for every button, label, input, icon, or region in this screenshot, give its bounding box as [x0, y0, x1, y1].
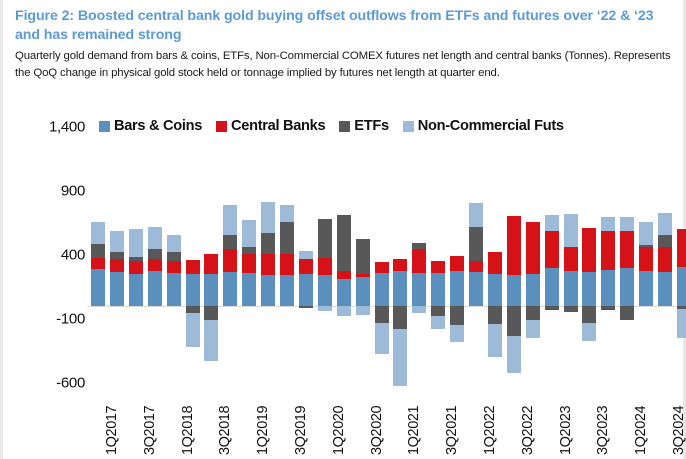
bar-segment[interactable] [148, 259, 162, 271]
bar-segment[interactable] [431, 261, 445, 273]
bar-segment[interactable] [526, 274, 540, 307]
bar-segment[interactable] [393, 271, 407, 306]
y-axis-ticks: 1,400900400-100-600 [17, 0, 85, 459]
bar-segment[interactable] [620, 231, 634, 268]
bar-segment[interactable] [431, 306, 445, 316]
bar-segment[interactable] [91, 258, 105, 269]
bar-segment[interactable] [658, 235, 672, 247]
bar-segment[interactable] [110, 272, 124, 307]
x-axis-tick-label: 3Q2020 [369, 406, 385, 455]
bar-segment[interactable] [469, 261, 483, 272]
bar-segment[interactable] [280, 205, 294, 222]
bar-segment[interactable] [204, 320, 218, 361]
bar-segment[interactable] [110, 252, 124, 259]
bar-segment[interactable] [658, 247, 672, 271]
bar-segment[interactable] [545, 268, 559, 306]
bar-segment[interactable] [167, 235, 181, 252]
bar-segment[interactable] [186, 260, 200, 273]
bar-segment[interactable] [601, 231, 615, 271]
bar-segment[interactable] [582, 228, 596, 272]
x-axis-tick-label: 1Q2019 [255, 406, 271, 455]
bar-segment[interactable] [507, 216, 521, 275]
x-axis-tick-label: 3Q2022 [520, 406, 536, 455]
bar-segment[interactable] [393, 259, 407, 271]
x-axis-tick-label: 1Q2018 [180, 406, 196, 455]
bar-segment[interactable] [223, 249, 237, 272]
bar-segment[interactable] [242, 273, 256, 306]
bar-segment[interactable] [129, 257, 143, 261]
bar-segment[interactable] [318, 275, 332, 306]
bar-segment[interactable] [545, 215, 559, 231]
bar-segment[interactable] [601, 217, 615, 230]
bar-segment[interactable] [299, 306, 313, 308]
y-axis-tick-label: 1,400 [49, 119, 85, 136]
bar-segment[interactable] [450, 256, 464, 271]
bar-segment[interactable] [526, 222, 540, 273]
bar-segment[interactable] [91, 222, 105, 244]
bar-segment[interactable] [507, 275, 521, 306]
bar-segment[interactable] [356, 239, 370, 274]
bar-segment[interactable] [677, 229, 686, 267]
bar-segment[interactable] [242, 220, 256, 247]
bar-segment[interactable] [186, 306, 200, 313]
bar-segment[interactable] [412, 243, 426, 248]
y-axis-tick-label: 900 [61, 183, 85, 200]
bar-segment[interactable] [469, 203, 483, 227]
bar-segment[interactable] [488, 324, 502, 357]
bar-segment[interactable] [564, 214, 578, 247]
x-axis-tick-label: 1Q2024 [633, 406, 649, 455]
bar-segment[interactable] [526, 306, 540, 320]
y-axis-tick-label: -600 [56, 375, 85, 392]
bar-segment[interactable] [431, 273, 445, 306]
bar-segment[interactable] [564, 306, 578, 312]
bar-segment[interactable] [620, 217, 634, 231]
bar-segment[interactable] [620, 306, 634, 320]
bar-segment[interactable] [639, 222, 653, 245]
bar-segment[interactable] [601, 270, 615, 306]
bar-segment[interactable] [242, 254, 256, 273]
bar-segment[interactable] [337, 306, 351, 316]
bar-segment[interactable] [223, 235, 237, 249]
bar-segment[interactable] [412, 273, 426, 306]
x-axis-tick-label: 3Q2024 [671, 406, 686, 455]
bar-segment[interactable] [658, 272, 672, 307]
bar-segment[interactable] [488, 252, 502, 274]
x-axis-tick-label: 3Q2021 [444, 406, 460, 455]
bar-segment[interactable] [545, 231, 559, 267]
bar-segment[interactable] [318, 306, 332, 310]
bar-segment[interactable] [375, 262, 389, 273]
x-axis-tick-label: 3Q2017 [142, 406, 158, 455]
bar-segment[interactable] [148, 249, 162, 259]
bar-segment[interactable] [204, 274, 218, 307]
bar-segment[interactable] [488, 306, 502, 324]
bar-segment[interactable] [375, 273, 389, 306]
bar-segment[interactable] [186, 274, 200, 307]
x-axis-tick-label: 1Q2021 [406, 406, 422, 455]
bar-segment[interactable] [148, 271, 162, 306]
bar-segment[interactable] [620, 268, 634, 306]
bar-segment[interactable] [488, 274, 502, 306]
bar-segment[interactable] [204, 254, 218, 273]
bar-segment[interactable] [261, 254, 275, 274]
x-axis-tick-label: 3Q2019 [293, 406, 309, 455]
bar-segment[interactable] [261, 275, 275, 306]
bar-segment[interactable] [337, 271, 351, 279]
bar-segment[interactable] [110, 259, 124, 271]
bar-segment[interactable] [91, 269, 105, 306]
x-axis-tick-label: 3Q2018 [217, 406, 233, 455]
y-axis-tick-label: -100 [56, 311, 85, 328]
bar-segment[interactable] [356, 306, 370, 314]
bar-segment[interactable] [299, 274, 313, 306]
bar-segment[interactable] [545, 306, 559, 310]
bar-segment[interactable] [601, 306, 615, 310]
bar-segment[interactable] [167, 252, 181, 262]
x-axis-tick-label: 3Q2023 [595, 406, 611, 455]
x-axis-tick-label: 1Q2023 [558, 406, 574, 455]
bar-segment[interactable] [469, 272, 483, 306]
bar-segment[interactable] [223, 205, 237, 235]
bar-segment[interactable] [450, 325, 464, 342]
bar-segment[interactable] [318, 258, 332, 275]
bar-segment[interactable] [582, 323, 596, 341]
bar-segment[interactable] [223, 272, 237, 306]
bar-chart-plot: 1,400900400-100-600 1Q20173Q20171Q20183Q… [3, 0, 686, 459]
bar-segment[interactable] [564, 271, 578, 306]
bar-segment[interactable] [129, 274, 143, 306]
bar-segment[interactable] [677, 267, 686, 306]
bar-segment[interactable] [507, 336, 521, 373]
bar-segment[interactable] [299, 251, 313, 259]
bar-segment[interactable] [204, 306, 218, 319]
bar-segment[interactable] [639, 271, 653, 306]
bar-segment[interactable] [261, 202, 275, 233]
bar-segment[interactable] [450, 306, 464, 325]
bar-segment[interactable] [356, 277, 370, 306]
bar-segment[interactable] [129, 261, 143, 274]
bar-segment[interactable] [526, 320, 540, 337]
bar-segment[interactable] [261, 233, 275, 255]
bar-segment[interactable] [299, 259, 313, 274]
bar-segment[interactable] [677, 309, 686, 338]
bar-segment[interactable] [469, 227, 483, 262]
bar-segment[interactable] [564, 247, 578, 271]
bar-segment[interactable] [393, 329, 407, 385]
bar-segment[interactable] [280, 222, 294, 254]
bar-segment[interactable] [167, 273, 181, 306]
bar-segment[interactable] [337, 215, 351, 271]
bar-segment[interactable] [242, 247, 256, 255]
bar-segment[interactable] [375, 323, 389, 354]
y-axis-tick-label: 400 [61, 247, 85, 264]
bar-segment[interactable] [110, 231, 124, 253]
bar-segment[interactable] [658, 213, 672, 235]
bar-segment[interactable] [129, 229, 143, 257]
figure-page: Figure 2: Boosted central bank gold buyi… [0, 0, 686, 459]
x-axis-tick-label: 1Q2022 [482, 406, 498, 455]
bar-segment[interactable] [412, 306, 426, 313]
bar-segment[interactable] [582, 272, 596, 306]
bar-segment[interactable] [280, 254, 294, 274]
bar-segment[interactable] [167, 261, 181, 273]
bar-segment[interactable] [412, 249, 426, 273]
bar-segment[interactable] [186, 313, 200, 346]
bar-segment[interactable] [639, 247, 653, 271]
bar-segment[interactable] [639, 245, 653, 248]
bar-segment[interactable] [280, 275, 294, 306]
bar-segment[interactable] [148, 227, 162, 248]
bar-segment[interactable] [393, 306, 407, 329]
bar-segment[interactable] [507, 306, 521, 335]
bar-segment[interactable] [375, 306, 389, 323]
x-axis-tick-label: 1Q2020 [331, 406, 347, 455]
bar-segment[interactable] [91, 244, 105, 258]
bar-segment[interactable] [582, 306, 596, 323]
x-axis-tick-label: 1Q2017 [104, 406, 120, 455]
bar-segment[interactable] [450, 271, 464, 306]
bar-segment[interactable] [431, 316, 445, 329]
bar-segment[interactable] [356, 274, 370, 277]
bar-segment[interactable] [337, 279, 351, 306]
bar-segment[interactable] [318, 219, 332, 257]
